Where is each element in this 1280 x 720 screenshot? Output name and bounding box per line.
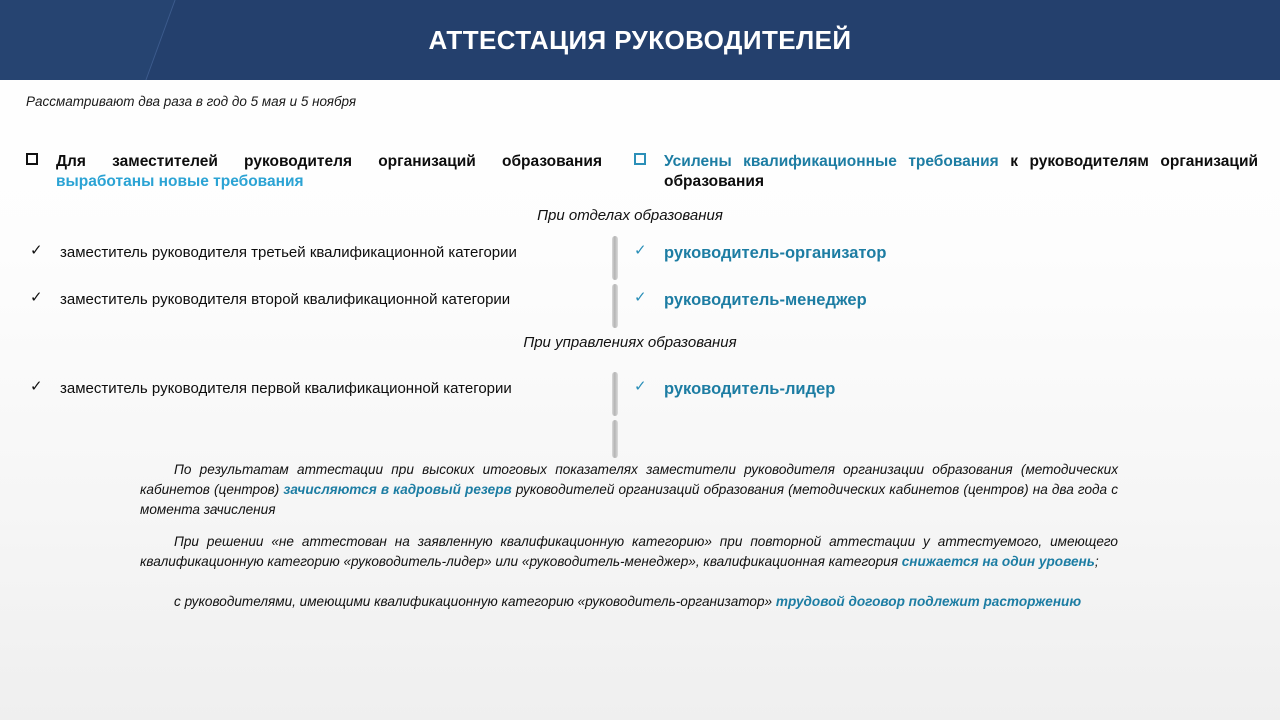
page-header: АТТЕСТАЦИЯ РУКОВОДИТЕЛЕЙ — [0, 0, 1280, 80]
list-item: ✓ заместитель руководителя первой квалиф… — [30, 379, 600, 399]
check-icon: ✓ — [634, 378, 647, 396]
list-item-label: заместитель руководителя первой квалифик… — [60, 379, 600, 399]
vertical-divider-bar — [612, 236, 618, 280]
square-bullet-icon — [634, 153, 646, 165]
list-item: ✓ руководитель-организатор — [634, 243, 1234, 263]
headline-bullet-right-text: Усилены квалификационные требования к ру… — [664, 152, 1258, 192]
note-paragraph: с руководителями, имеющими квалификацион… — [140, 592, 1118, 612]
list-item-label: заместитель руководителя второй квалифик… — [60, 290, 600, 310]
page-title: АТТЕСТАЦИЯ РУКОВОДИТЕЛЕЙ — [0, 0, 1280, 80]
headline-bullet-left-text: Для заместителей руководителя организаци… — [56, 152, 602, 192]
list-item-label: руководитель-менеджер — [664, 290, 1234, 310]
headline-bullet-left: Для заместителей руководителя организаци… — [26, 152, 602, 192]
check-icon: ✓ — [634, 289, 647, 307]
subtitle-schedule: Рассматривают два раза в год до 5 мая и … — [26, 94, 356, 109]
note-accent-1: зачисляются в кадровый резерв — [283, 482, 511, 497]
note-accent-2: снижается на один уровень — [902, 554, 1095, 569]
list-item: ✓ руководитель-лидер — [634, 379, 1234, 399]
list-item-label: заместитель руководителя третьей квалифи… — [60, 243, 600, 263]
list-item: ✓ руководитель-менеджер — [634, 290, 1234, 310]
note-part-2: ; — [1095, 554, 1099, 569]
note-paragraph-text: По результатам аттестации при высоких ит… — [140, 460, 1118, 520]
check-icon: ✓ — [30, 242, 43, 260]
note-paragraph: По результатам аттестации при высоких ит… — [140, 460, 1118, 520]
vertical-divider-bar — [612, 372, 618, 416]
list-item: ✓ заместитель руководителя третьей квали… — [30, 243, 600, 263]
note-paragraph-text: При решении «не аттестован на заявленную… — [140, 532, 1118, 572]
check-icon: ✓ — [634, 242, 647, 260]
check-icon: ✓ — [30, 289, 43, 307]
vertical-divider-bar — [612, 284, 618, 328]
headline-left-accent: выработаны новые требования — [56, 173, 304, 190]
list-item-label: руководитель-лидер — [664, 379, 1234, 399]
headline-left-plain: Для заместителей руководителя организаци… — [56, 153, 602, 170]
note-part-1: с руководителями, имеющими квалификацион… — [174, 594, 776, 609]
list-item-label: руководитель-организатор — [664, 243, 1234, 263]
section-caption-departments: При отделах образования — [340, 207, 920, 224]
note-accent-3: трудовой договор подлежит расторжению — [776, 594, 1081, 609]
square-bullet-icon — [26, 153, 38, 165]
headline-right-accent: Усилены квалификационные требования — [664, 153, 999, 170]
list-item: ✓ заместитель руководителя второй квалиф… — [30, 290, 600, 310]
vertical-divider-bar — [612, 420, 618, 458]
note-paragraph: При решении «не аттестован на заявленную… — [140, 532, 1118, 572]
section-caption-administrations: При управлениях образования — [340, 334, 920, 351]
check-icon: ✓ — [30, 378, 43, 396]
note-paragraph-text: с руководителями, имеющими квалификацион… — [140, 592, 1118, 612]
headline-bullet-right: Усилены квалификационные требования к ру… — [634, 152, 1258, 192]
